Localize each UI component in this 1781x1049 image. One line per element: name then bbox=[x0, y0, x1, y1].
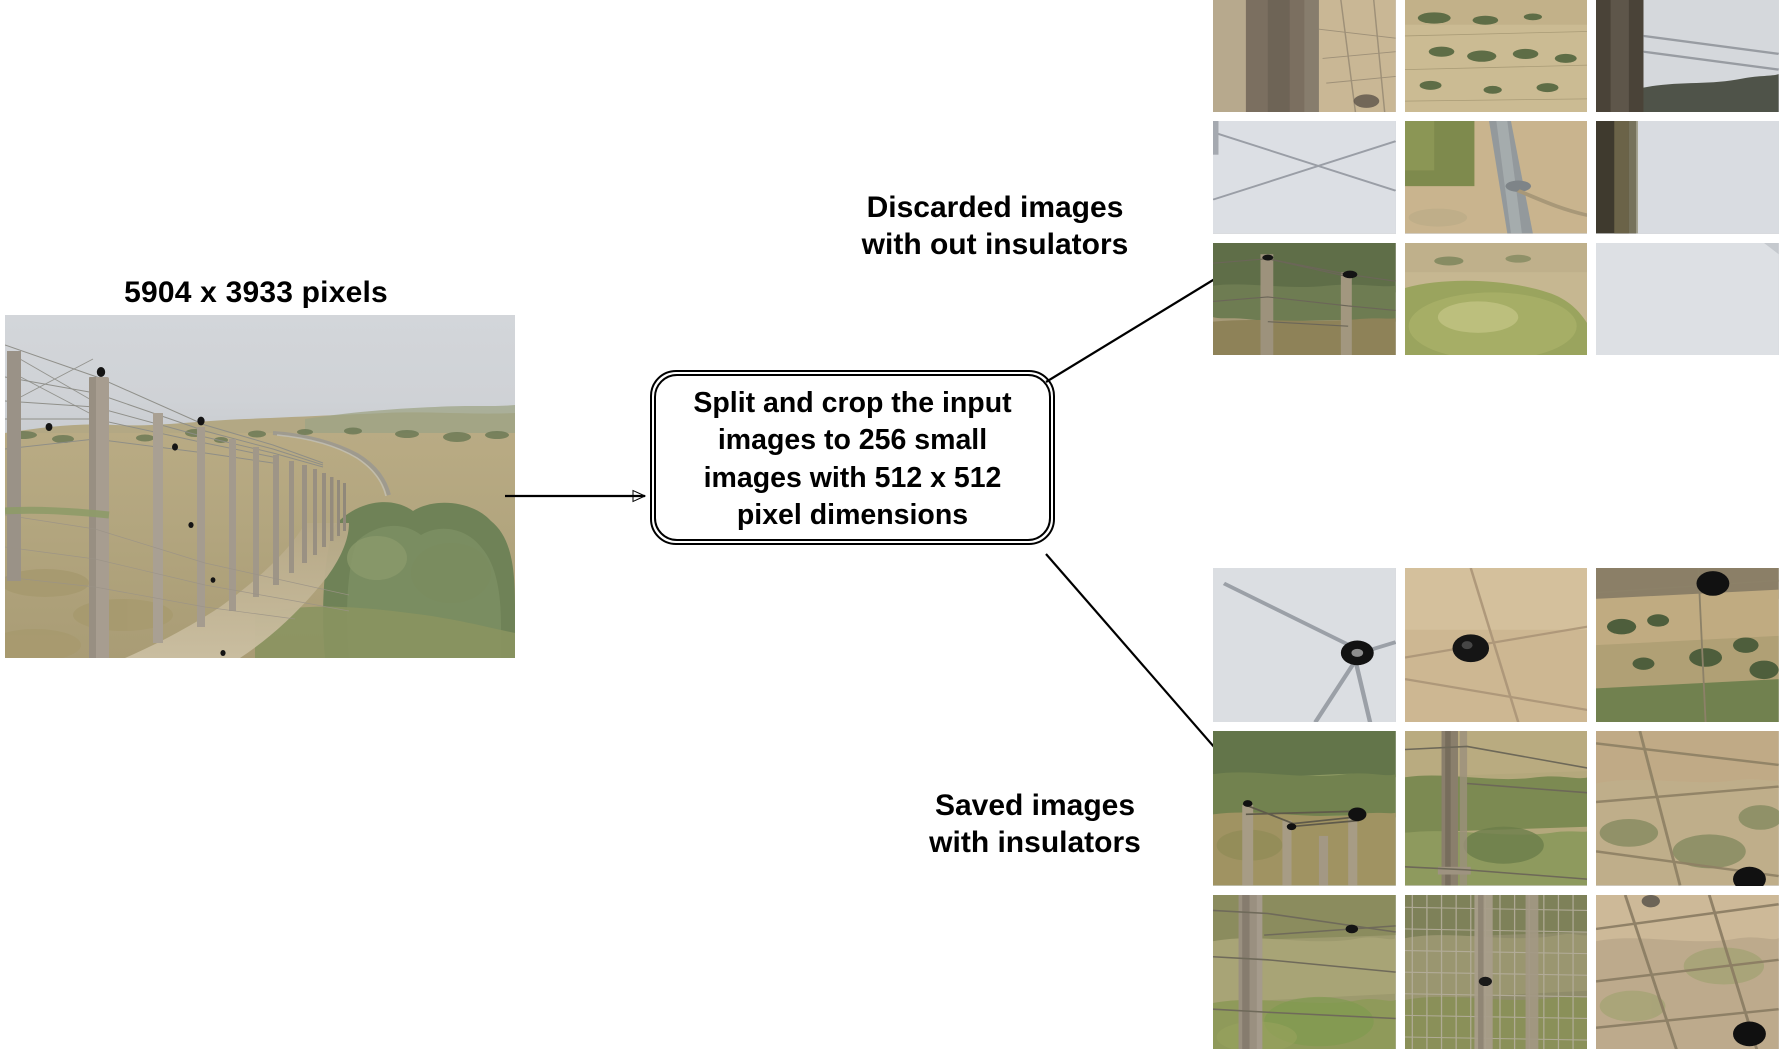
thumb-discarded-2 bbox=[1405, 0, 1588, 112]
thumb-saved-7 bbox=[1213, 895, 1396, 1049]
thumb-saved-1 bbox=[1213, 568, 1396, 722]
thumb-discarded-5 bbox=[1405, 121, 1588, 233]
thumb-discarded-8 bbox=[1405, 243, 1588, 355]
thumb-saved-8 bbox=[1405, 895, 1588, 1049]
thumb-discarded-6 bbox=[1596, 121, 1779, 233]
thumb-saved-6 bbox=[1596, 731, 1779, 885]
thumb-saved-9 bbox=[1596, 895, 1779, 1049]
thumb-discarded-7 bbox=[1213, 243, 1396, 355]
label-discarded-images: Discarded images with out insulators bbox=[800, 190, 1190, 263]
thumb-saved-3 bbox=[1596, 568, 1779, 722]
grid-discarded-thumbnails bbox=[1213, 0, 1779, 355]
grid-saved-thumbnails bbox=[1213, 568, 1779, 1049]
thumb-discarded-1 bbox=[1213, 0, 1396, 112]
thumb-discarded-3 bbox=[1596, 0, 1779, 112]
thumb-discarded-4 bbox=[1213, 121, 1396, 233]
thumb-saved-4 bbox=[1213, 731, 1396, 885]
diagram-canvas: 5904 x 3933 pixels bbox=[0, 0, 1781, 1049]
process-box: Split and crop the input images to 256 s… bbox=[650, 370, 1055, 545]
thumb-saved-5 bbox=[1405, 731, 1588, 885]
source-image-caption: 5904 x 3933 pixels bbox=[0, 276, 512, 310]
source-photo bbox=[5, 315, 515, 658]
thumb-saved-2 bbox=[1405, 568, 1588, 722]
thumb-discarded-9 bbox=[1596, 243, 1779, 355]
label-saved-images: Saved images with insulators bbox=[870, 788, 1200, 861]
arrow-source-to-process bbox=[505, 470, 665, 530]
process-box-text: Split and crop the input images to 256 s… bbox=[660, 382, 1045, 537]
